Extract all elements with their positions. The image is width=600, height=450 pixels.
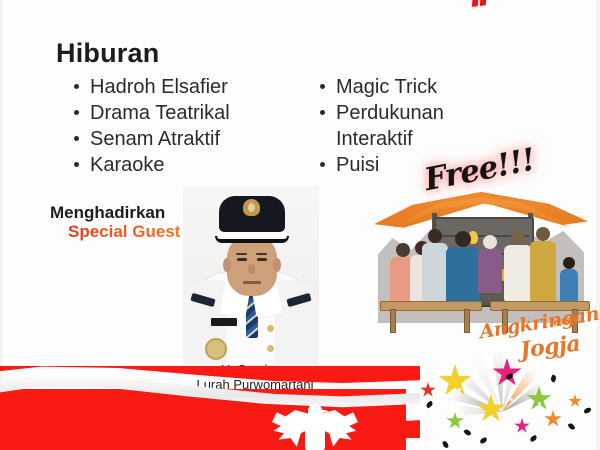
fireworks-burst <box>418 358 598 450</box>
bullet-icon <box>320 162 325 167</box>
bullet-icon <box>320 84 325 89</box>
portrait-nose <box>248 264 255 274</box>
confetti-piece <box>550 374 557 382</box>
entertainment-heading: Hiburan <box>56 38 159 69</box>
bench-leg <box>464 309 470 333</box>
list-item: Karaoke <box>72 152 230 178</box>
burst-spark <box>510 398 513 401</box>
bullet-icon <box>320 110 325 115</box>
confetti-piece <box>479 437 487 444</box>
guest-portrait <box>183 186 319 366</box>
portrait-ear-left <box>223 258 231 272</box>
portrait-button <box>267 325 274 332</box>
special-guest-label: Special Guest <box>68 222 180 242</box>
burst-spark <box>500 416 503 419</box>
burst-star <box>568 394 582 408</box>
burst-spark <box>484 380 487 383</box>
entertainment-list-left: Hadroh Elsafier Drama Teatrikal Senam At… <box>72 74 230 178</box>
confetti-piece <box>529 435 537 443</box>
portrait-mouth <box>243 281 261 284</box>
bullet-icon <box>74 110 79 115</box>
customer-figure <box>504 245 532 301</box>
bench-leg <box>390 309 396 333</box>
portrait-brow-right <box>256 253 267 255</box>
burst-spark <box>448 398 451 401</box>
list-item: Hadroh Elsafier <box>72 74 230 100</box>
portrait-button <box>267 345 274 352</box>
poster-canvas: 17 AGUSTUS 1945 Hiburan Hadroh Elsafier … <box>0 0 600 450</box>
bullet-icon <box>74 84 79 89</box>
list-item: Senam Atraktif <box>72 126 230 152</box>
confetti-piece <box>463 428 471 437</box>
portrait-ear-right <box>273 258 281 272</box>
customer-figure <box>422 243 448 301</box>
portrait-medal-icon <box>207 340 225 358</box>
list-item: Drama Teatrikal <box>72 100 230 126</box>
customer-figure-child <box>560 269 578 303</box>
bullet-icon <box>74 162 79 167</box>
independence-emblem: 17 AGUSTUS 1945 <box>470 0 593 16</box>
flag-dots-icon <box>471 0 494 2</box>
customer-figure <box>446 247 480 303</box>
bullet-icon <box>74 136 79 141</box>
burst-spark <box>458 388 461 391</box>
burst-star <box>514 418 530 434</box>
confetti-piece <box>568 422 576 431</box>
portrait-eye-left <box>237 258 247 261</box>
portrait-eye-right <box>257 258 267 261</box>
burst-star <box>544 410 562 428</box>
guest-label: Menghadirkan <box>50 203 165 223</box>
garuda-eagle-icon <box>272 404 358 450</box>
confetti-piece <box>425 400 434 408</box>
burst-spark <box>470 410 473 413</box>
portrait-shoulder-right <box>275 280 319 366</box>
portrait-brow-left <box>236 253 247 255</box>
burst-spark <box>538 402 541 405</box>
list-item-continuation: Interaktif <box>318 126 444 152</box>
list-item: Perdukunan <box>318 100 444 126</box>
burst-star <box>420 382 436 398</box>
list-item: Magic Trick <box>318 74 444 100</box>
confetti-piece <box>584 408 592 414</box>
portrait-name-badge <box>211 318 237 326</box>
cap-emblem-icon <box>243 199 260 216</box>
customer-figure <box>478 249 502 293</box>
customer-figure <box>530 241 556 301</box>
confetti-piece <box>442 441 448 449</box>
